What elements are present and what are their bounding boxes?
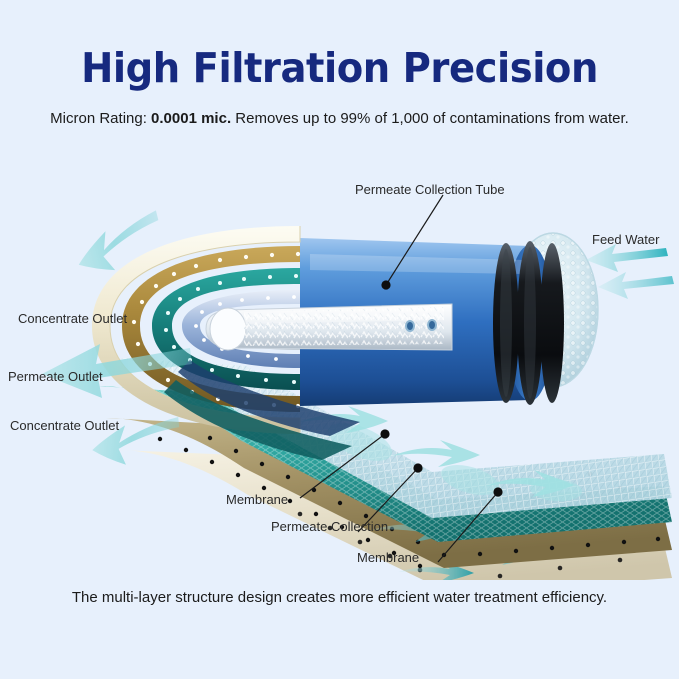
label-feed-water: Feed Water (592, 232, 659, 248)
label-concentrate-outlet-top: Concentrate Outlet (18, 311, 127, 327)
subtitle-suffix: Removes up to 99% of 1,000 of contaminat… (231, 110, 629, 127)
footer-note: The multi-layer structure design creates… (0, 588, 679, 608)
subtitle-prefix: Micron Rating: (50, 110, 151, 127)
membrane-cutaway-diagram (0, 150, 679, 580)
label-permeate-outlet: Permeate Outlet (8, 369, 103, 385)
leader-dot-membrane-upper (380, 429, 389, 438)
permeate-collection-tube (206, 304, 452, 350)
label-concentrate-outlet-bottom: Concentrate Outlet (10, 418, 119, 434)
leader-dot-permeate-collection (413, 463, 422, 472)
label-membrane-lower: Membrane (357, 550, 419, 566)
page-title: High Filtration Precision (20, 44, 658, 92)
micron-rating-value: 0.0001 mic. (151, 110, 231, 127)
label-permeate-collection: Permeate Collection (271, 519, 388, 535)
label-permeate-collection-tube: Permeate Collection Tube (355, 182, 505, 198)
label-membrane-upper: Membrane (226, 492, 288, 508)
infographic-page: High Filtration Precision Micron Rating:… (0, 0, 679, 679)
leader-dot-permeate-tube (381, 280, 390, 289)
concentrate-outlet-arrow-1 (71, 210, 168, 278)
feed-water-arrows (586, 244, 674, 299)
leader-dot-membrane-lower (493, 487, 502, 496)
housing-o-rings (493, 241, 564, 405)
subtitle-line: Micron Rating: 0.0001 mic. Removes up to… (0, 109, 679, 129)
